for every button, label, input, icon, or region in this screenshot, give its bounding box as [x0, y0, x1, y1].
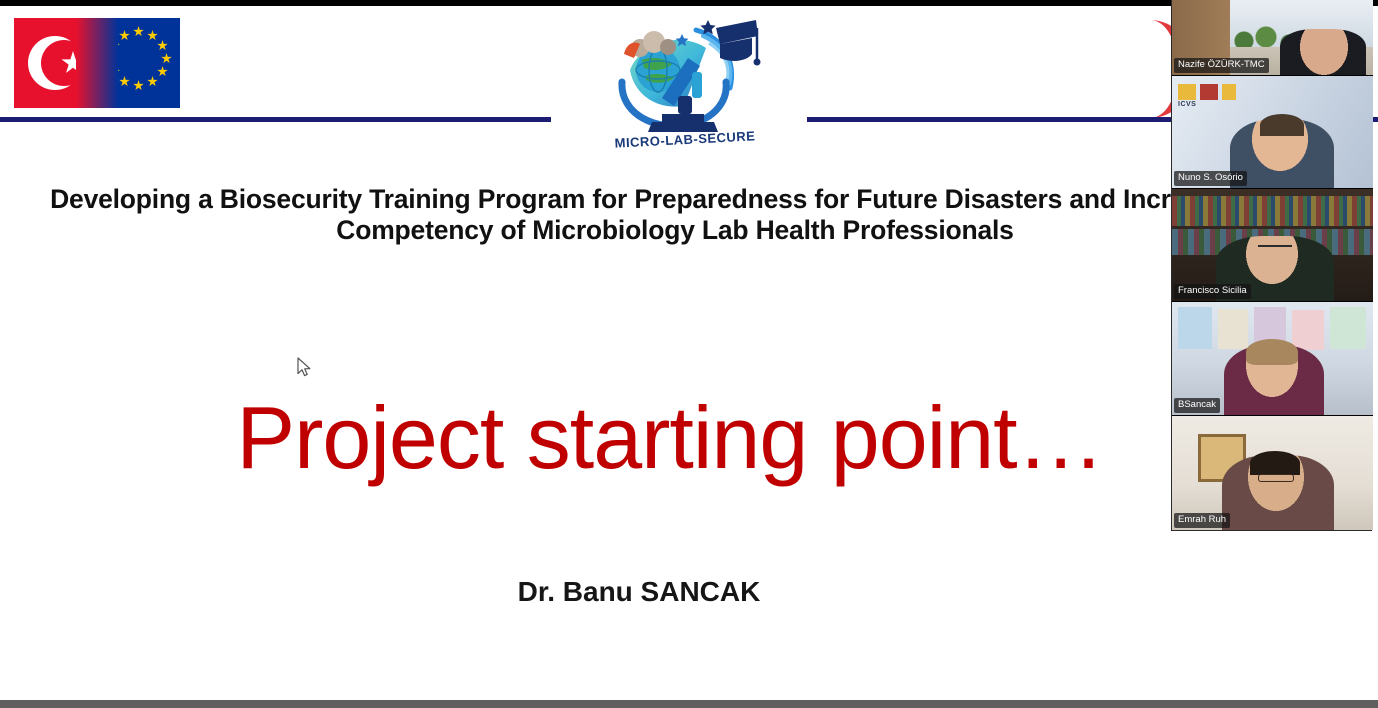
video-tile[interactable]: Nazife ÖZÜRK-TMC	[1172, 0, 1373, 76]
turkey-eu-flag-logo	[14, 18, 180, 108]
slide-title: Developing a Biosecurity Training Progra…	[10, 184, 1340, 246]
divider-rule-left	[0, 117, 551, 122]
video-call-filmstrip[interactable]: Nazife ÖZÜRK-TMC Nuno S. Osório Francisc…	[1171, 0, 1372, 531]
micro-lab-secure-logo: MICRO-LAB-SECURE	[600, 14, 770, 162]
video-tile[interactable]: BSancak	[1172, 302, 1373, 416]
participant-name-label: Emrah Ruh	[1174, 513, 1230, 528]
video-tile[interactable]: Francisco Sicilia	[1172, 189, 1373, 302]
bottom-chrome-bar	[0, 700, 1378, 708]
video-tile[interactable]: Nuno S. Osório	[1172, 76, 1373, 189]
slide-headline: Project starting point…	[0, 394, 1340, 482]
mouse-pointer-icon	[297, 357, 313, 379]
presenter-name: Dr. Banu SANCAK	[0, 576, 1278, 608]
micro-lab-secure-glyph	[600, 14, 770, 139]
participant-name-label: BSancak	[1174, 398, 1220, 413]
participant-name-label: Nazife ÖZÜRK-TMC	[1174, 58, 1269, 73]
video-tile[interactable]: Emrah Ruh	[1172, 416, 1373, 530]
screen: MICRO-LAB-SECURE Developing a Biosecurit…	[0, 0, 1378, 708]
icvs-logo	[1178, 84, 1240, 112]
participant-name-label: Nuno S. Osório	[1174, 171, 1247, 186]
flag-gradient-blend	[76, 18, 118, 108]
participant-name-label: Francisco Sicilia	[1174, 284, 1251, 299]
